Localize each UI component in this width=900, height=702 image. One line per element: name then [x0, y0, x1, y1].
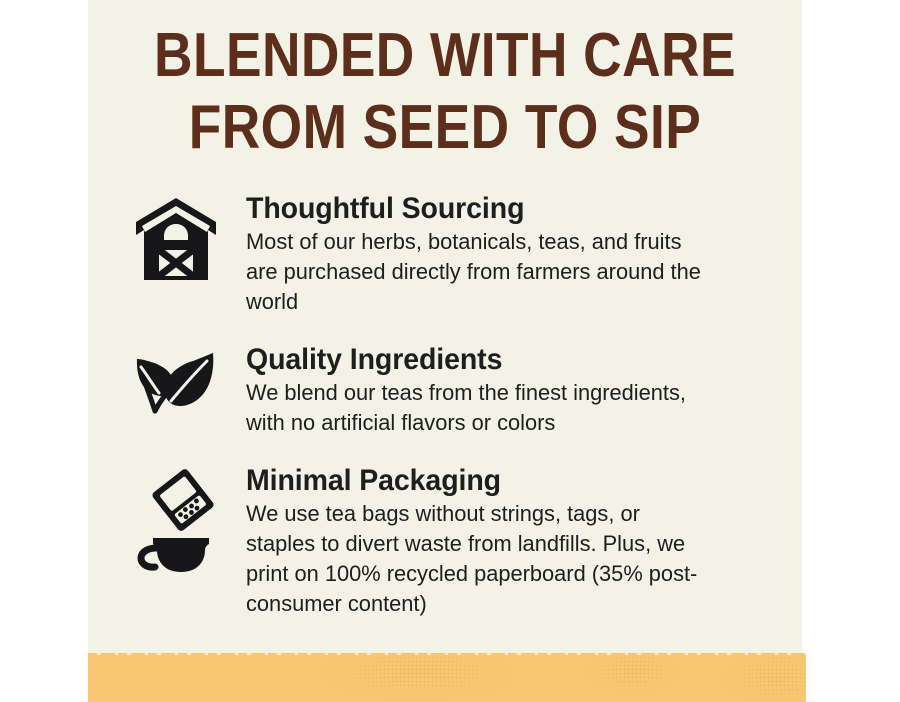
feature-item-minimal-packaging: Minimal Packaging We use tea bags withou… [88, 464, 802, 619]
bottom-burlap-band [88, 653, 806, 702]
feature-text-block: Quality Ingredients We blend our teas fr… [224, 343, 778, 438]
feature-item-quality-ingredients: Quality Ingredients We blend our teas fr… [88, 343, 802, 438]
feature-description: We blend our teas from the finest ingred… [246, 378, 702, 438]
feature-title: Thoughtful Sourcing [246, 192, 751, 225]
feature-description: We use tea bags without strings, tags, o… [246, 499, 702, 619]
feature-text-block: Thoughtful Sourcing Most of our herbs, b… [224, 192, 778, 317]
headline-line-1: BLENDED WITH CARE [138, 20, 752, 92]
leaves-icon [128, 343, 224, 415]
headline-line-2: FROM SEED TO SIP [138, 92, 752, 164]
poster-canvas: BLENDED WITH CARE FROM SEED TO SIP [0, 0, 900, 702]
feature-title: Minimal Packaging [246, 464, 751, 497]
feature-title: Quality Ingredients [246, 343, 751, 376]
page-title: BLENDED WITH CARE FROM SEED TO SIP [138, 20, 752, 164]
band-weave-texture [88, 653, 806, 702]
feature-text-block: Minimal Packaging We use tea bags withou… [224, 464, 778, 619]
feature-description: Most of our herbs, botanicals, teas, and… [246, 227, 702, 317]
feature-list: Thoughtful Sourcing Most of our herbs, b… [88, 192, 802, 645]
barn-icon [128, 192, 224, 282]
feature-item-thoughtful-sourcing: Thoughtful Sourcing Most of our herbs, b… [88, 192, 802, 317]
content-panel: BLENDED WITH CARE FROM SEED TO SIP [88, 0, 802, 702]
teabag-mug-icon [128, 464, 224, 578]
